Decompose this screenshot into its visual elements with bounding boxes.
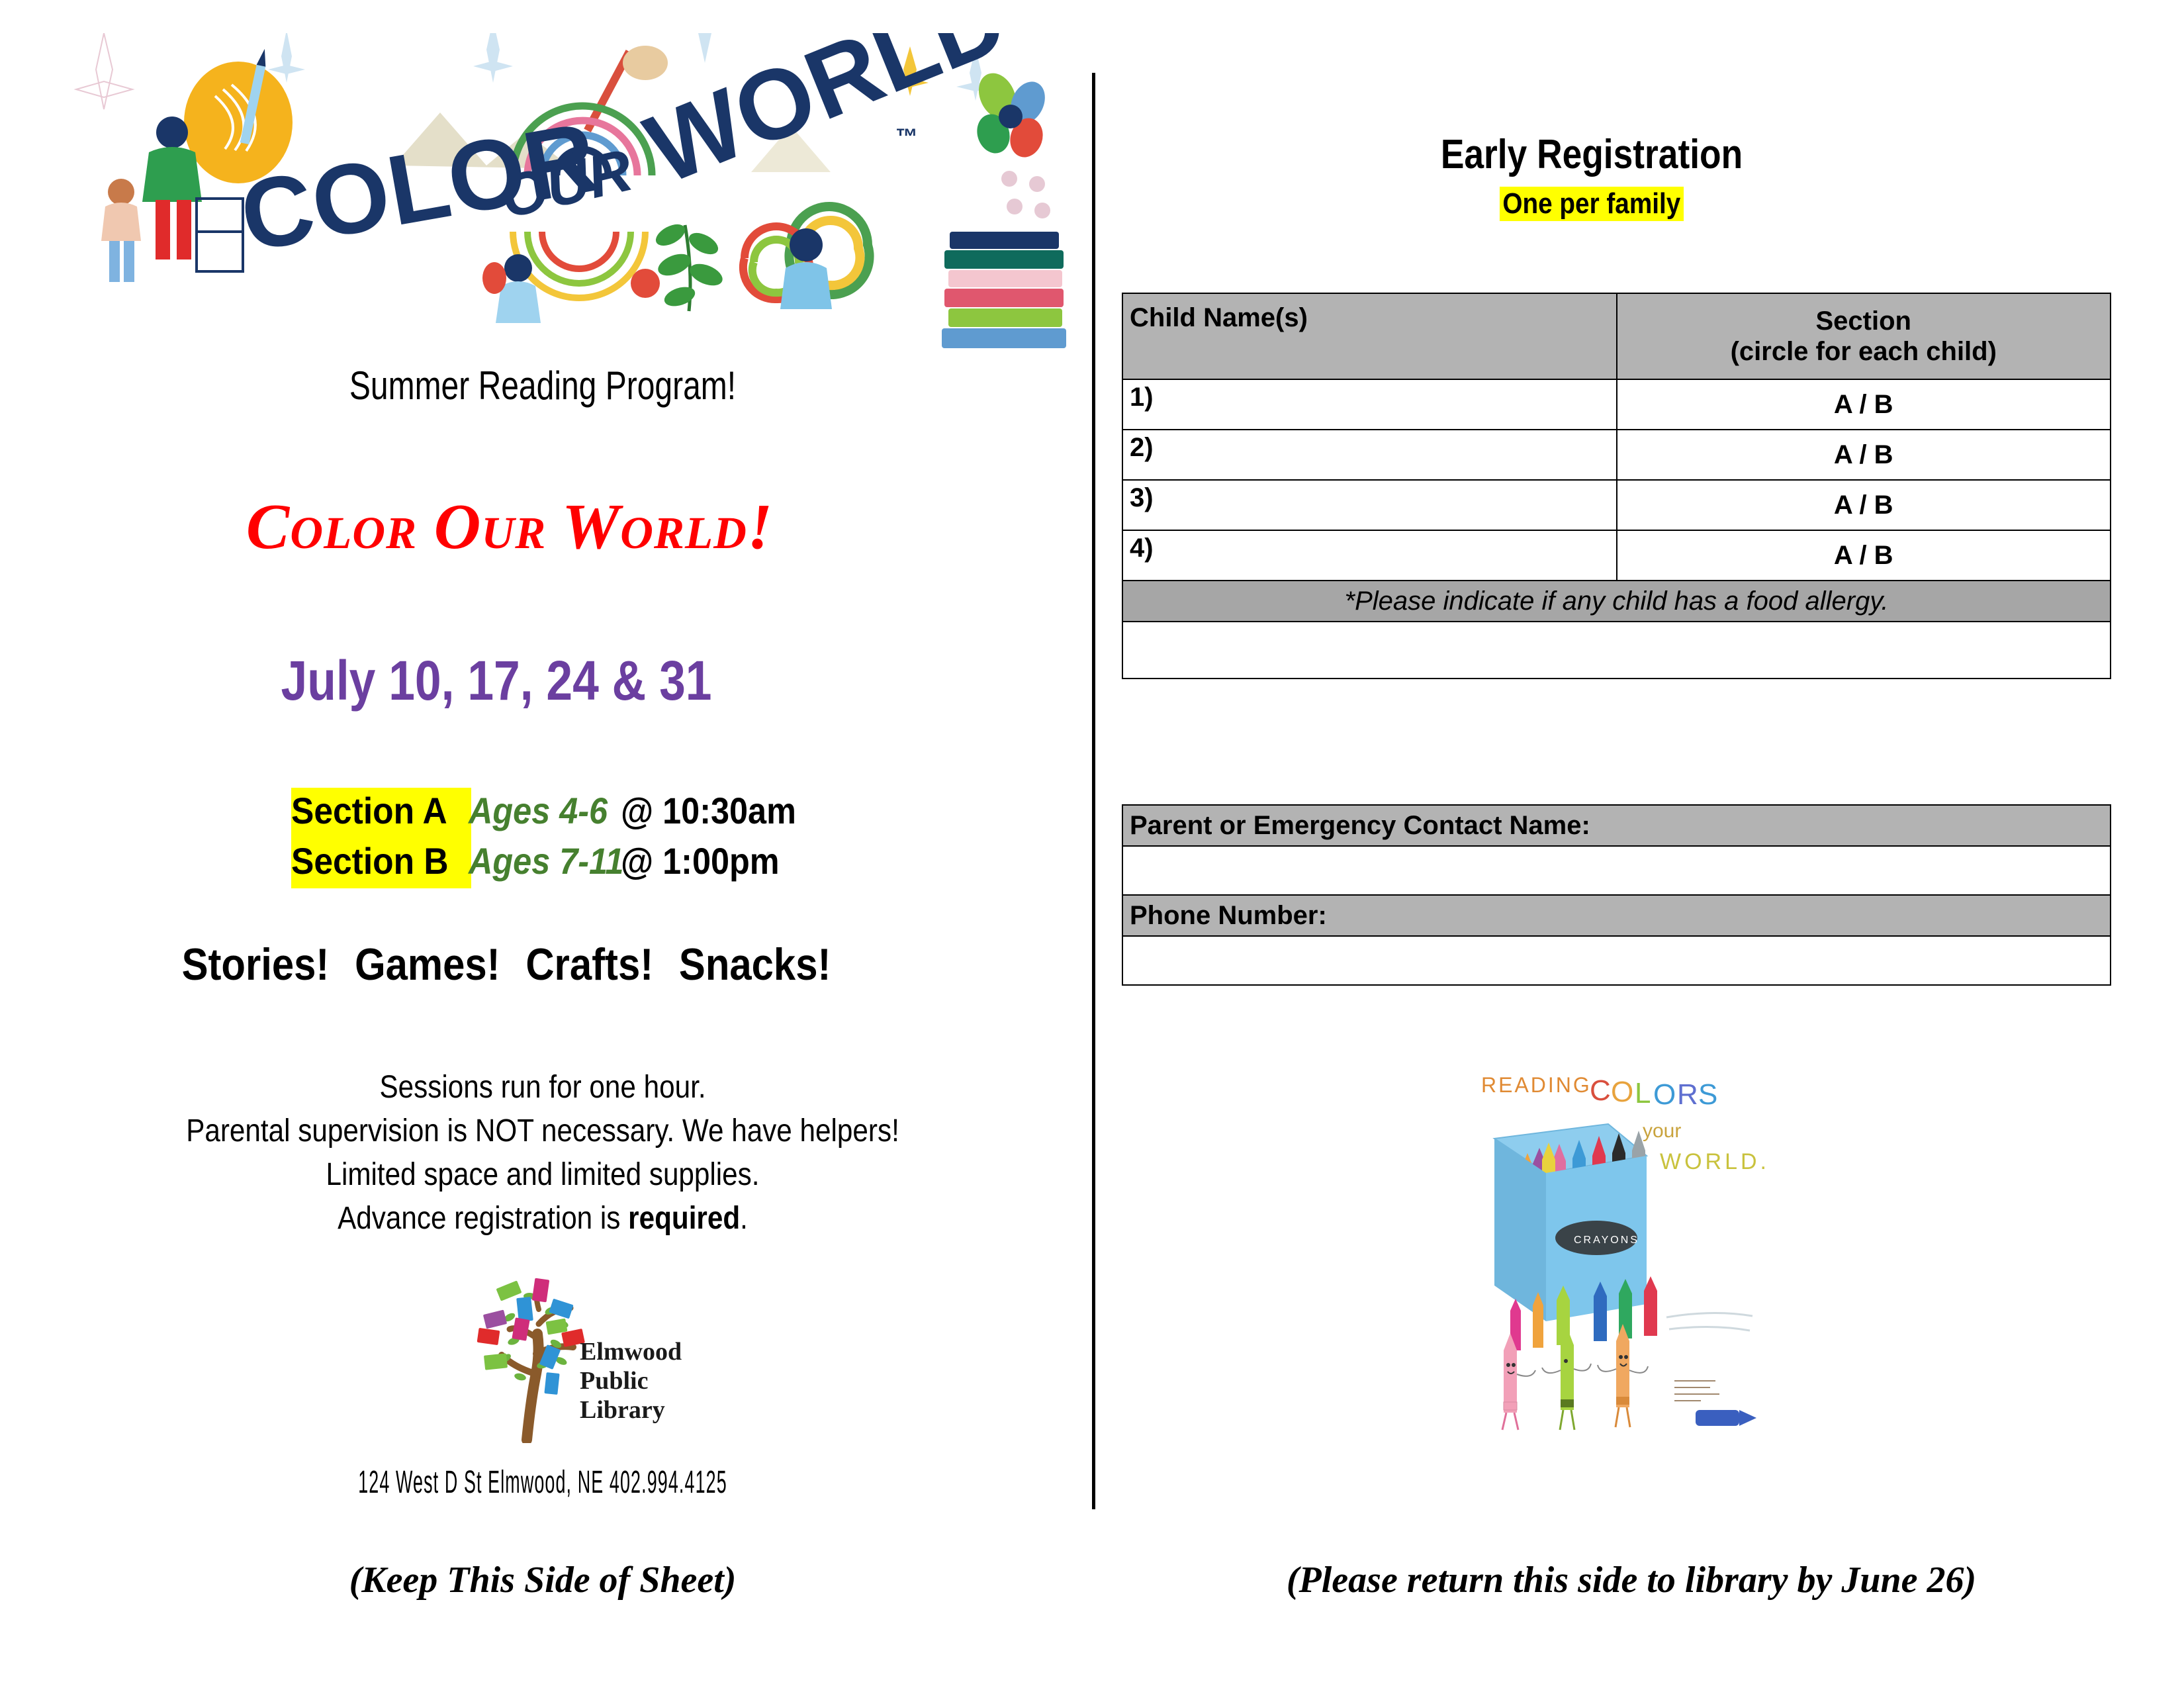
- allergy-blank-row[interactable]: [1122, 622, 2111, 679]
- color-our-world-banner-image: COLOR OUR WORLD ™: [50, 33, 1082, 351]
- registration-title: Early Registration: [1165, 131, 2019, 178]
- child-name-field-2[interactable]: 2): [1122, 430, 1617, 480]
- allergy-note: *Please indicate if any child has a food…: [1122, 581, 2111, 622]
- section-b-name: Section B: [291, 837, 455, 886]
- program-subtitle: Summer Reading Program!: [109, 363, 977, 408]
- section-row-b: Section BAges 7-11@ 1:00pm: [291, 837, 821, 887]
- table-row[interactable]: 3) A / B: [1122, 480, 2111, 530]
- detail-line-2: Parental supervision is NOT necessary. W…: [65, 1109, 1020, 1153]
- detail-line-4-required: required: [628, 1201, 740, 1236]
- contact-information-table: Parent or Emergency Contact Name: Phone …: [1122, 804, 2111, 986]
- svg-text:R: R: [1677, 1078, 1701, 1111]
- elmwood-public-library-logo: Elmwood Public Library: [463, 1278, 688, 1443]
- detail-line-4: Advance registration is required.: [65, 1197, 1020, 1241]
- header-child-names: Child Name(s): [1122, 293, 1617, 379]
- svg-text:your: your: [1643, 1120, 1681, 1142]
- program-dates: July 10, 17, 24 & 31: [75, 649, 919, 713]
- right-panel: Early Registration One per family Child …: [1095, 0, 2184, 1688]
- svg-text:™: ™: [895, 124, 918, 150]
- footer-keep-side: (Keep This Side of Sheet): [0, 1559, 1085, 1601]
- section-choice-3[interactable]: A / B: [1617, 480, 2111, 530]
- reading-colors-your-world-illustration: READING C O L O R S your WORLD.: [1410, 1039, 1820, 1436]
- flyer-page: COLOR OUR WORLD ™ Summer Reading Program…: [0, 0, 2184, 1688]
- phone-number-label: Phone Number:: [1122, 895, 2111, 936]
- allergy-write-in-field[interactable]: [1122, 622, 2111, 679]
- phone-input-row[interactable]: [1122, 936, 2111, 985]
- contact-name-input-row[interactable]: [1122, 846, 2111, 895]
- section-a-ages: Ages 4-6: [469, 786, 606, 835]
- detail-line-4-post: .: [740, 1201, 748, 1236]
- svg-text:O: O: [1611, 1076, 1636, 1108]
- contact-name-field[interactable]: [1122, 846, 2111, 895]
- section-row-a: Section AAges 4-6@ 10:30am: [291, 786, 821, 837]
- svg-text:READING: READING: [1481, 1073, 1592, 1097]
- table-row[interactable]: 4) A / B: [1122, 530, 2111, 581]
- contact-name-label: Parent or Emergency Contact Name:: [1122, 805, 2111, 846]
- activity-crafts: Crafts!: [525, 939, 653, 990]
- header-section-line2: (circle for each child): [1624, 336, 2104, 367]
- left-panel: COLOR OUR WORLD ™ Summer Reading Program…: [0, 0, 1085, 1688]
- footer-return-side: (Please return this side to library by J…: [1095, 1559, 2167, 1601]
- svg-text:CRAYONS: CRAYONS: [1574, 1235, 1639, 1246]
- table-row[interactable]: 1) A / B: [1122, 379, 2111, 430]
- section-a-name: Section A: [291, 786, 455, 835]
- registration-subtitle: One per family: [1500, 187, 1684, 221]
- section-choice-1[interactable]: A / B: [1617, 379, 2111, 430]
- svg-text:C: C: [1590, 1074, 1614, 1107]
- detail-line-3: Limited space and limited supplies.: [65, 1153, 1020, 1197]
- phone-number-field[interactable]: [1122, 936, 2111, 985]
- allergy-note-row: *Please indicate if any child has a food…: [1122, 581, 2111, 622]
- contact-name-label-row: Parent or Emergency Contact Name:: [1122, 805, 2111, 846]
- library-address: 124 West D St Elmwood, NE 402.994.4125: [239, 1464, 846, 1501]
- header-section-line1: Section: [1624, 306, 2104, 336]
- program-details: Sessions run for one hour. Parental supe…: [65, 1066, 1020, 1241]
- svg-text:WORLD.: WORLD.: [1660, 1149, 1770, 1174]
- child-name-field-1[interactable]: 1): [1122, 379, 1617, 430]
- section-b-ages: Ages 7-11: [469, 837, 606, 886]
- svg-text:Library: Library: [580, 1396, 665, 1424]
- activity-stories: Stories!: [182, 939, 330, 990]
- table-row[interactable]: 2) A / B: [1122, 430, 2111, 480]
- child-name-field-4[interactable]: 4): [1122, 530, 1617, 581]
- svg-text:L: L: [1635, 1077, 1653, 1109]
- activity-snacks: Snacks!: [679, 939, 831, 990]
- phone-label-row: Phone Number:: [1122, 895, 2111, 936]
- section-a-time: @ 10:30am: [621, 786, 796, 835]
- activity-games: Games!: [355, 939, 500, 990]
- activities-line: Stories!Games!Crafts!Snacks!: [61, 939, 952, 990]
- svg-text:Public: Public: [580, 1367, 648, 1395]
- child-name-field-3[interactable]: 3): [1122, 480, 1617, 530]
- table-header-row: Child Name(s) Section (circle for each c…: [1122, 293, 2111, 379]
- section-choice-2[interactable]: A / B: [1617, 430, 2111, 480]
- svg-text:S: S: [1698, 1078, 1720, 1111]
- svg-text:Elmwood: Elmwood: [580, 1338, 682, 1366]
- detail-line-4-pre: Advance registration is: [338, 1201, 628, 1236]
- svg-text:O: O: [1653, 1078, 1678, 1111]
- detail-line-1: Sessions run for one hour.: [65, 1066, 1020, 1109]
- child-registration-table: Child Name(s) Section (circle for each c…: [1122, 293, 2111, 679]
- section-choice-4[interactable]: A / B: [1617, 530, 2111, 581]
- page-title: Color Our World!: [0, 490, 1019, 564]
- section-b-time: @ 1:00pm: [621, 837, 780, 886]
- header-section: Section (circle for each child): [1617, 293, 2111, 379]
- sections-list: Section AAges 4-6@ 10:30am Section BAges…: [291, 786, 821, 887]
- registration-subtitle-wrap: One per family: [1095, 187, 2088, 221]
